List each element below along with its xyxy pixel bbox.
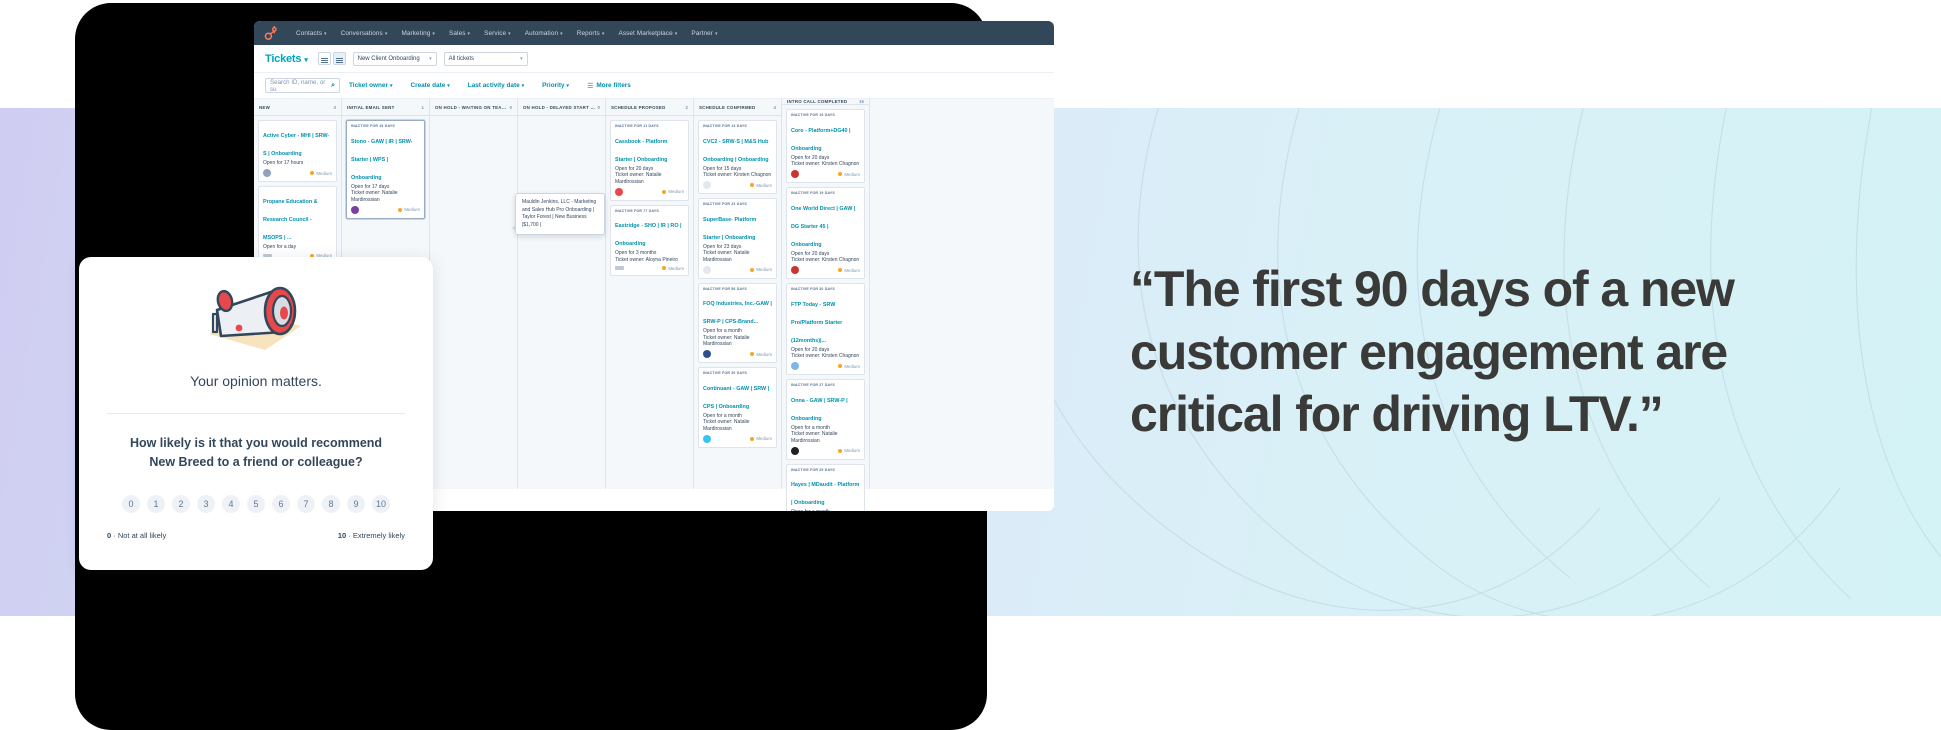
chevron-down-icon: ▾ <box>468 31 471 37</box>
priority-dot-icon <box>310 171 314 175</box>
card-inactive-badge: INACTIVE FOR 30 DAYS <box>791 287 860 291</box>
card-title-link[interactable]: FTP Today - SRW Pro/Platform Starter (12… <box>791 302 842 344</box>
nav-item-conversations[interactable]: Conversations▾ <box>334 30 395 37</box>
chevron-down-icon: ▾ <box>567 83 570 89</box>
kanban-column-name: SCHEDULE CONFIRMED <box>699 105 755 110</box>
nps-score-2[interactable]: 2 <box>172 495 190 513</box>
card-ticket-owner: Ticket owner: Kirsten Chagnon <box>703 172 772 179</box>
megaphone-icon <box>107 279 405 359</box>
priority-dot-icon <box>838 449 842 453</box>
avatar[interactable] <box>703 350 711 358</box>
chevron-down-icon: ▾ <box>520 56 523 62</box>
card-inactive-badge: INACTIVE FOR 30 DAYS <box>703 371 772 375</box>
chevron-down-icon: ▾ <box>715 31 718 37</box>
kanban-column-body: INACTIVE FOR 16 DAYSStono - GAW | IR | S… <box>342 116 429 223</box>
priority-label: Medium <box>668 266 684 271</box>
search-input[interactable]: Search ID, name, or su ⌕ <box>265 78 340 93</box>
kanban-column-name: INITIAL EMAIL SENT <box>347 105 395 110</box>
card-inactive-badge: INACTIVE FOR 27 DAYS <box>791 383 860 387</box>
priority-label: Medium <box>756 436 772 441</box>
card-inactive-badge: INACTIVE FOR 56 DAYS <box>703 287 772 291</box>
avatar[interactable] <box>351 206 359 214</box>
nps-score-10[interactable]: 10 <box>372 495 390 513</box>
card-ticket-owner: Ticket owner: Kirsten Chagnon <box>791 161 860 168</box>
kanban-column[interactable]: SCHEDULE PROPOSED2INACTIVE FOR 11 DAYSCa… <box>606 99 694 489</box>
kanban-column-body: INACTIVE FOR 11 DAYSCassbook - Platform … <box>606 116 693 280</box>
filter-icon: ☰ <box>587 82 593 90</box>
board-view-icon[interactable] <box>333 52 346 65</box>
priority-label: Medium <box>756 183 772 188</box>
view-toggle <box>318 52 346 65</box>
ticket-card[interactable]: Propane Education & Research Council - M… <box>258 186 337 263</box>
card-title-link[interactable]: Continuant - GAW | SRW | CPS | Onboardin… <box>703 386 769 410</box>
avatar[interactable] <box>615 266 624 270</box>
nps-score-8[interactable]: 8 <box>322 495 340 513</box>
avatar[interactable] <box>791 447 799 455</box>
card-inactive-badge: INACTIVE FOR 29 DAYS <box>791 468 860 472</box>
priority-badge: Medium <box>750 436 772 441</box>
kanban-column-count: 0 <box>598 105 600 110</box>
priority-badge: Medium <box>750 267 772 272</box>
priority-dot-icon <box>838 172 842 176</box>
priority-dot-icon <box>662 190 666 194</box>
avatar[interactable] <box>703 181 711 189</box>
ticket-card[interactable]: INACTIVE FOR 14 DAYSCVC2 - SRW-S | M&S H… <box>698 120 777 194</box>
nps-legend-low: 0 · Not at all likely <box>107 531 166 540</box>
ticket-card[interactable]: INACTIVE FOR 23 DAYSSuperBase- Platform … <box>698 198 777 279</box>
priority-label: Medium <box>844 364 860 369</box>
ticket-card[interactable]: Active Cyber - MHI | SRW-S | OnboardingO… <box>258 120 337 182</box>
card-inactive-badge: INACTIVE FOR 14 DAYS <box>703 124 772 128</box>
ticket-card[interactable]: INACTIVE FOR 19 DAYSOne World Direct | G… <box>786 187 865 279</box>
card-title-link[interactable]: Onna - GAW | SRW-P | Onboarding <box>791 398 848 422</box>
kanban-column-header: INITIAL EMAIL SENT1 <box>342 99 429 116</box>
avatar[interactable] <box>791 362 799 370</box>
priority-dot-icon <box>750 183 754 187</box>
kanban-column-count: 4 <box>774 105 776 110</box>
kanban-column-name: ON HOLD - WAITING ON TEAM ASSIG... <box>435 105 510 110</box>
card-ticket-owner: Ticket owner: Natalie Mardirossian <box>703 335 772 348</box>
card-ticket-owner: Ticket owner: Natalie Mardirossian <box>703 250 772 263</box>
pull-quote: “The first 90 days of a new customer eng… <box>1130 258 1830 446</box>
ticket-card[interactable]: INACTIVE FOR 16 DAYSStono - GAW | IR | S… <box>346 120 425 219</box>
nps-score-5[interactable]: 5 <box>247 495 265 513</box>
priority-label: Medium <box>844 268 860 273</box>
card-ticket-owner: Ticket owner: Natalie Mardirossian <box>615 172 684 185</box>
ticket-card[interactable]: INACTIVE FOR 30 DAYSFTP Today - SRW Pro/… <box>786 283 865 375</box>
chevron-down-icon: ▾ <box>390 83 393 89</box>
kanban-column-count: 0 <box>510 105 512 110</box>
kanban-column-body: INACTIVE FOR 14 DAYSCVC2 - SRW-S | M&S H… <box>694 116 781 452</box>
card-footer: Medium <box>703 350 772 358</box>
card-title-link[interactable]: CVC2 - SRW-S | M&S Hub Onboarding | Onbo… <box>703 139 769 163</box>
ticket-card[interactable]: INACTIVE FOR 11 DAYSCassbook - Platform … <box>610 120 689 201</box>
priority-badge: Medium <box>750 183 772 188</box>
nps-score-7[interactable]: 7 <box>297 495 315 513</box>
filter-ticket-owner[interactable]: Ticket owner▾ <box>340 82 401 89</box>
tickets-subheader: Tickets▾ New Client Onboarding ▾ All tic… <box>254 45 1054 73</box>
card-open-duration: Open for 17 hours <box>263 160 332 167</box>
kanban-column-count: 16 <box>859 99 864 104</box>
card-title-link[interactable]: Cassbook - Platform Starter | Onboarding <box>615 139 667 163</box>
nps-subtitle: Your opinion matters. <box>107 373 405 389</box>
priority-dot-icon <box>838 364 842 368</box>
kanban-column[interactable]: INTRO CALL COMPLETED16INACTIVE FOR 19 DA… <box>782 99 870 489</box>
nps-legend-high: 10 · Extremely likely <box>338 531 405 540</box>
avatar[interactable] <box>703 266 711 274</box>
priority-badge: Medium <box>838 268 860 273</box>
card-hover-tooltip: Mauldin Jenkins, LLC - Marketing and Sal… <box>515 193 605 235</box>
card-footer: Medium <box>703 266 772 274</box>
chevron-down-icon: ▾ <box>432 31 435 37</box>
nav-item-automation[interactable]: Automation▾ <box>518 30 570 37</box>
kanban-column-name: SCHEDULE PROPOSED <box>611 105 666 110</box>
card-title-link[interactable]: Coro - Platform+DG40 | Onboarding <box>791 128 850 152</box>
card-title-link[interactable]: FOQ Industries, Inc.-GAW | SRW-P | CPS-B… <box>703 301 772 325</box>
nps-legend: 0 · Not at all likely 10 · Extremely lik… <box>107 531 405 540</box>
priority-dot-icon <box>750 437 754 441</box>
nps-score-1[interactable]: 1 <box>147 495 165 513</box>
priority-badge: Medium <box>838 172 860 177</box>
card-inactive-badge: INACTIVE FOR 77 DAYS <box>615 209 684 213</box>
nps-score-4[interactable]: 4 <box>222 495 240 513</box>
card-footer: Medium <box>703 181 772 189</box>
filter-create-date[interactable]: Create date▾ <box>401 82 458 89</box>
card-ticket-owner: Ticket owner: Natalie Mardirossian <box>791 431 860 444</box>
nav-item-reports[interactable]: Reports▾ <box>570 30 612 37</box>
kanban-column-header: ON HOLD - WAITING ON TEAM ASSIG...0 <box>430 99 517 116</box>
avatar[interactable] <box>703 435 711 443</box>
ticket-card[interactable]: INACTIVE FOR 27 DAYSOnna - GAW | SRW-P |… <box>786 379 865 460</box>
card-footer: Medium <box>263 169 332 177</box>
chevron-down-icon: ▾ <box>429 56 432 62</box>
nps-scale[interactable]: 012345678910 <box>107 495 405 513</box>
priority-label: Medium <box>668 189 684 194</box>
card-footer: Medium <box>791 447 860 455</box>
kanban-column-body: INACTIVE FOR 19 DAYSCoro - Platform+DG40… <box>782 105 869 511</box>
card-footer: Medium <box>791 362 860 370</box>
nps-score-3[interactable]: 3 <box>197 495 215 513</box>
nav-item-marketing[interactable]: Marketing▾ <box>394 30 442 37</box>
nps-score-6[interactable]: 6 <box>272 495 290 513</box>
divider <box>107 413 405 414</box>
card-footer: Medium <box>703 435 772 443</box>
kanban-column-name: ON HOLD - DELAYED START DATE <box>523 105 598 110</box>
kanban-column-count: 2 <box>686 105 688 110</box>
chevron-down-icon: ▾ <box>508 31 511 37</box>
priority-dot-icon <box>398 208 402 212</box>
kanban-column-header: NEW3 <box>254 99 341 116</box>
avatar[interactable] <box>791 266 799 274</box>
chevron-down-icon: ▾ <box>447 83 450 89</box>
card-ticket-owner: Ticket owner: Natalie Mardirossian <box>351 190 420 203</box>
card-footer: Medium <box>791 266 860 274</box>
card-inactive-badge: INACTIVE FOR 19 DAYS <box>791 191 860 195</box>
nav-item-partner[interactable]: Partner▾ <box>684 30 724 37</box>
ticket-card[interactable]: INACTIVE FOR 19 DAYSCoro - Platform+DG40… <box>786 109 865 183</box>
kanban-column-count: 3 <box>334 105 336 110</box>
kanban-column[interactable]: ON HOLD - WAITING ON TEAM ASSIG...0 <box>430 99 518 489</box>
ticket-card[interactable]: INACTIVE FOR 30 DAYSContinuant - GAW | S… <box>698 367 777 448</box>
card-ticket-owner: Ticket owner: Kirsten Chagnon <box>791 353 860 360</box>
card-title-link[interactable]: One World Direct | GAW | DG Starter 45 |… <box>791 206 855 248</box>
kanban-column[interactable]: SCHEDULE CONFIRMED4INACTIVE FOR 14 DAYSC… <box>694 99 782 489</box>
priority-dot-icon <box>750 352 754 356</box>
card-footer: Medium <box>615 188 684 196</box>
pipeline-select[interactable]: New Client Onboarding ▾ <box>353 52 437 66</box>
kanban-column-header: ON HOLD - DELAYED START DATE0 <box>518 99 605 116</box>
avatar[interactable] <box>615 188 623 196</box>
priority-label: Medium <box>316 171 332 176</box>
nps-score-0[interactable]: 0 <box>122 495 140 513</box>
chevron-down-icon: ▾ <box>602 31 605 37</box>
card-inactive-badge: INACTIVE FOR 19 DAYS <box>791 113 860 117</box>
nav-item-service[interactable]: Service▾ <box>477 30 518 37</box>
page-title[interactable]: Tickets▾ <box>265 53 308 65</box>
priority-label: Medium <box>404 207 420 212</box>
card-inactive-badge: INACTIVE FOR 16 DAYS <box>351 124 420 128</box>
more-filters-label: More filters <box>596 82 630 89</box>
more-filters-button[interactable]: ☰ More filters <box>578 82 640 90</box>
chevron-down-icon: ▾ <box>324 31 327 37</box>
nav-item-asset-marketplace[interactable]: Asset Marketplace▾ <box>611 30 684 37</box>
priority-badge: Medium <box>838 448 860 453</box>
card-ticket-owner: Ticket owner: Aloyna Pineiro <box>615 257 684 264</box>
nps-survey-card: Your opinion matters. How likely is it t… <box>79 257 433 570</box>
card-open-duration: Open for a month <box>791 509 860 511</box>
priority-dot-icon <box>662 266 666 270</box>
card-title-link[interactable]: Eastridge - SHO | IR | RO | Onboarding <box>615 223 682 247</box>
priority-dot-icon <box>750 268 754 272</box>
card-title-link[interactable]: Hayes | MDaudit - Platform | Onboarding <box>791 482 859 506</box>
chevron-down-icon: ▾ <box>675 31 678 37</box>
hubspot-sprocket-icon[interactable] <box>263 25 279 41</box>
ticket-filter-select[interactable]: All tickets ▾ <box>444 52 528 66</box>
ticket-card[interactable]: INACTIVE FOR 56 DAYSFOQ Industries, Inc.… <box>698 283 777 364</box>
priority-dot-icon <box>838 268 842 272</box>
card-inactive-badge: INACTIVE FOR 23 DAYS <box>703 202 772 206</box>
avatar[interactable] <box>263 169 271 177</box>
chevron-down-icon: ▾ <box>560 31 563 37</box>
card-ticket-owner: Ticket owner: Natalie Mardirossian <box>703 419 772 432</box>
ticket-card[interactable]: INACTIVE FOR 29 DAYSHayes | MDaudit - Pl… <box>786 464 865 512</box>
card-title-link[interactable]: Propane Education & Research Council - M… <box>263 199 318 241</box>
app-top-navigation: Contacts▾ Conversations▾ Marketing▾ Sale… <box>254 21 1054 45</box>
chevron-down-icon: ▾ <box>304 57 307 64</box>
card-inactive-badge: INACTIVE FOR 11 DAYS <box>615 124 684 128</box>
priority-label: Medium <box>756 267 772 272</box>
kanban-column-header: SCHEDULE PROPOSED2 <box>606 99 693 116</box>
search-icon[interactable]: ⌕ <box>331 82 335 90</box>
priority-badge: Medium <box>750 352 772 357</box>
kanban-column-header: SCHEDULE CONFIRMED4 <box>694 99 781 116</box>
kanban-column-name: INTRO CALL COMPLETED <box>787 99 847 104</box>
kanban-column-count: 1 <box>422 105 424 110</box>
card-ticket-owner: Ticket owner: Kirsten Chagnon <box>791 257 860 264</box>
priority-badge: Medium <box>398 207 420 212</box>
card-title-link[interactable]: SuperBase- Platform Starter | Onboarding <box>703 217 756 241</box>
filter-last-activity-date[interactable]: Last activity date▾ <box>459 82 533 89</box>
filter-priority[interactable]: Priority▾ <box>533 82 578 89</box>
card-title-link[interactable]: Stono - GAW | IR | SRW-Starter | WPS | O… <box>351 139 413 181</box>
search-placeholder: Search ID, name, or su <box>270 79 331 93</box>
kanban-column[interactable]: ON HOLD - DELAYED START DATE0 <box>518 99 606 489</box>
nps-question: How likely is it that you would recommen… <box>107 434 405 473</box>
priority-label: Medium <box>756 352 772 357</box>
kanban-column-name: NEW <box>259 105 270 110</box>
nav-item-sales[interactable]: Sales▾ <box>442 30 477 37</box>
avatar[interactable] <box>791 170 799 178</box>
card-footer: Medium <box>615 266 684 271</box>
priority-badge: Medium <box>310 171 332 176</box>
nps-score-9[interactable]: 9 <box>347 495 365 513</box>
priority-label: Medium <box>844 172 860 177</box>
priority-badge: Medium <box>662 189 684 194</box>
chevron-down-icon: ▾ <box>522 83 525 89</box>
card-open-duration: Open for a day <box>263 244 332 251</box>
kanban-column-body <box>430 116 517 124</box>
filter-bar: Search ID, name, or su ⌕ Ticket owner▾ C… <box>254 73 1054 99</box>
priority-badge: Medium <box>662 266 684 271</box>
card-footer: Medium <box>351 206 420 214</box>
priority-badge: Medium <box>838 364 860 369</box>
ticket-card[interactable]: INACTIVE FOR 77 DAYSEastridge - SHO | IR… <box>610 205 689 276</box>
priority-label: Medium <box>844 448 860 453</box>
chevron-down-icon: ▾ <box>385 31 388 37</box>
nav-item-contacts[interactable]: Contacts▾ <box>289 30 334 37</box>
card-title-link[interactable]: Active Cyber - MHI | SRW-S | Onboarding <box>263 133 329 157</box>
kanban-column-body <box>518 116 605 124</box>
list-view-icon[interactable] <box>318 52 331 65</box>
card-footer: Medium <box>791 170 860 178</box>
